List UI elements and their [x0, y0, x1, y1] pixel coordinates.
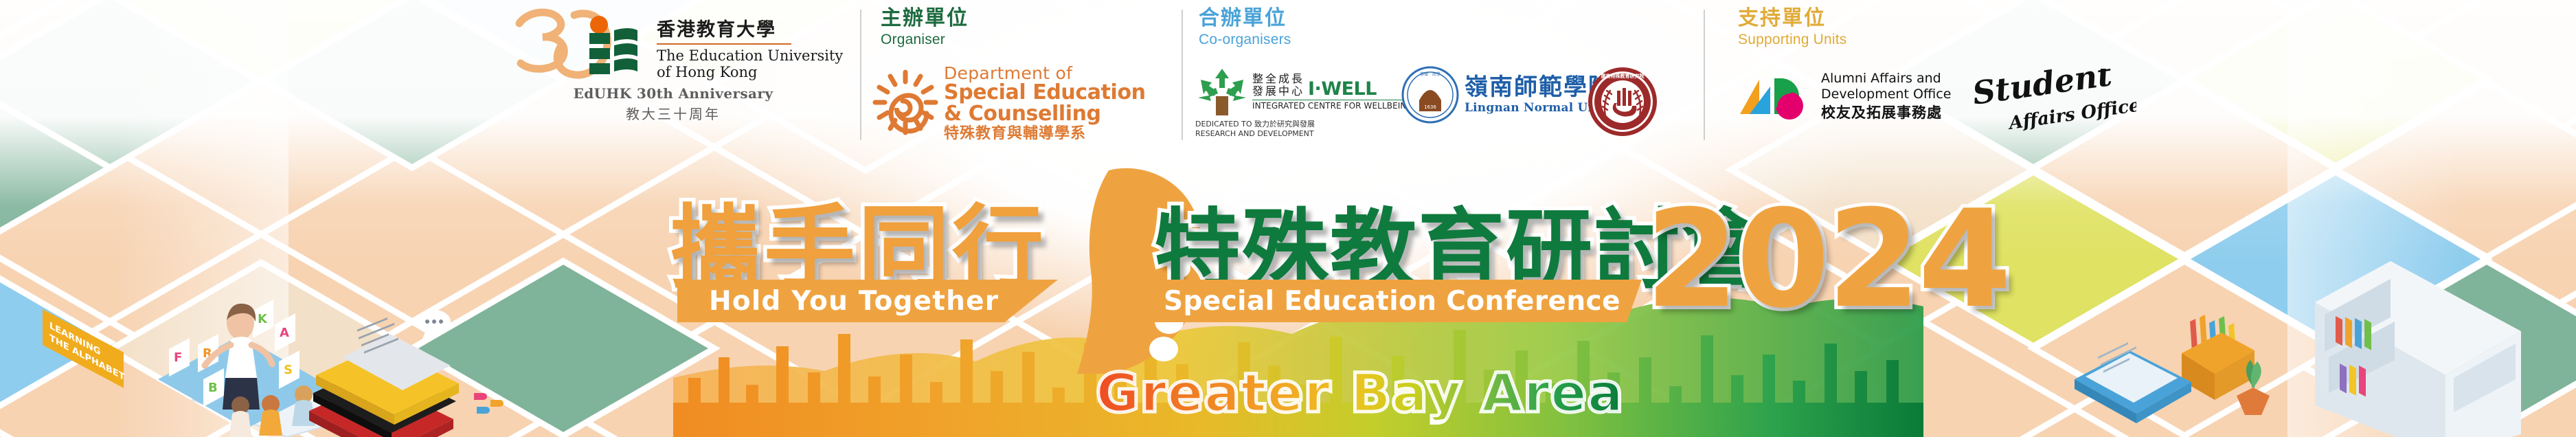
student-affairs-office-script-icon: Student Affairs Office	[1971, 69, 2136, 135]
separator-2	[1182, 10, 1183, 140]
section-heading-co-organisers: 合辦單位 Co-organisers	[1199, 7, 1291, 49]
guangdong-special-education-seal-logo: 廣東特殊教育研究院 1982	[1587, 66, 1662, 225]
aado-mark-icon	[1735, 69, 1811, 124]
aado-name-en-line2: Development Office	[1821, 87, 1951, 102]
organiser-heading-en: Organiser	[881, 31, 969, 49]
eduhk-name-en-line2: of Hong Kong	[657, 64, 843, 80]
aado-wordmark: Alumni Affairs and Development Office 校友…	[1821, 71, 1951, 122]
department-special-education-counselling-logo: Department of Special Education & Counse…	[871, 63, 1173, 223]
dsec-line4-zh: 特殊教育與輔導學系	[944, 126, 1146, 142]
tree-icon	[1195, 66, 1249, 117]
i-well-logo: 整全成長 發展中心 I·WELL INTEGRATED CENTRE FOR W…	[1195, 66, 1401, 225]
dsec-line1: Department of	[944, 65, 1146, 82]
svg-text:廣東特殊教育研究院: 廣東特殊教育研究院	[1601, 73, 1645, 79]
headline-ribbon-left: Hold You Together	[677, 280, 1058, 322]
co-organisers-heading-zh: 合辦單位	[1199, 7, 1291, 30]
organiser-heading-zh: 主辦單位	[881, 7, 969, 30]
supporting-units-heading-en: Supporting Units	[1738, 31, 1846, 49]
separator-3	[1704, 10, 1705, 140]
iwell-dedication-en2: RESEARCH AND DEVELOPMENT	[1195, 129, 1314, 138]
aado-name-zh: 校友及拓展事務處	[1821, 104, 1951, 122]
aado-name-en-line1: Alumni Affairs and	[1821, 71, 1951, 87]
iwell-rule	[1252, 100, 1413, 101]
iwell-dedication-zh: 致力於研究與發展	[1254, 120, 1315, 128]
student-affairs-office-logo: Student Affairs Office	[1971, 69, 2143, 228]
dsec-line3: & Counselling	[944, 104, 1146, 124]
eduhk-anniversary-en: EdUHK 30th Anniversary	[529, 85, 817, 102]
eduhk-30th-anniversary-icon	[508, 5, 654, 78]
alumni-affairs-development-office-logo: Alumni Affairs and Development Office 校友…	[1735, 69, 1961, 228]
iwell-dedication: DEDICATED TO 致力於研究與發展 RESEARCH AND DEVEL…	[1195, 120, 1401, 139]
co-organisers-heading-en: Co-organisers	[1199, 31, 1291, 49]
supporting-units-heading-zh: 支持單位	[1738, 7, 1846, 30]
lingnan-seal-icon: 1636 崇德 · 尚學	[1401, 66, 1459, 124]
iwell-subtitle-en: INTEGRATED CENTRE FOR WELLBEING	[1252, 102, 1413, 110]
eduhk-wordmark: 香港教育大學 The Education University of Hong …	[654, 5, 843, 81]
i-well-wordmark: 整全成長 發展中心 I·WELL INTEGRATED CENTRE FOR W…	[1252, 73, 1413, 110]
svg-text:崇德 · 尚學: 崇德 · 尚學	[1420, 71, 1440, 77]
section-heading-supporting-units: 支持單位 Supporting Units	[1738, 7, 1846, 49]
iwell-wordmark-text: I·WELL	[1308, 80, 1377, 98]
eduhk-logo-block: 香港教育大學 The Education University of Hong …	[508, 0, 866, 159]
greater-bay-area-label: Greater Bay Area	[1096, 367, 1625, 419]
eduhk-name-en-line1: The Education University	[657, 47, 843, 64]
eduhk-name-zh: 香港教育大學	[657, 21, 843, 40]
separator-1	[860, 10, 861, 140]
seal-year: 1982	[1617, 124, 1627, 129]
iwell-zh-line2: 發展中心	[1252, 85, 1304, 98]
red-seal-icon: 廣東特殊教育研究院 1982	[1587, 66, 1658, 137]
iwell-zh-line1: 整全成長	[1252, 73, 1304, 85]
eduhk-anniversary-text: EdUHK 30th Anniversary 教大三十周年	[529, 85, 817, 123]
dsec-line2: Special Education	[944, 82, 1146, 103]
conference-banner: LEARNING THE ALPHABET F R B K A S	[0, 0, 2576, 437]
iwell-dedication-en1: DEDICATED TO	[1195, 120, 1252, 128]
svg-text:1636: 1636	[1424, 104, 1436, 110]
headline-title-en-left: Hold You Together	[709, 286, 999, 317]
headline-ribbon-right: Special Education Conference	[1140, 280, 1642, 322]
headline-title-en-right: Special Education Conference	[1164, 286, 1620, 317]
dsec-wordmark: Department of Special Education & Counse…	[944, 63, 1146, 142]
lingnan-normal-university-logo: 1636 崇德 · 尚學 嶺南師範學院 Lingnan Normal Unive…	[1401, 66, 1601, 225]
greater-bay-area-wrap: Greater Bay Area Greater Bay Area	[1096, 367, 1625, 419]
sun-spiral-icon	[871, 68, 940, 137]
eduhk-anniversary-zh: 教大三十周年	[529, 103, 817, 123]
logo-strip: 香港教育大學 The Education University of Hong …	[0, 0, 2576, 159]
section-heading-organiser: 主辦單位 Organiser	[881, 7, 969, 49]
eduhk-divider-rule	[657, 43, 791, 45]
